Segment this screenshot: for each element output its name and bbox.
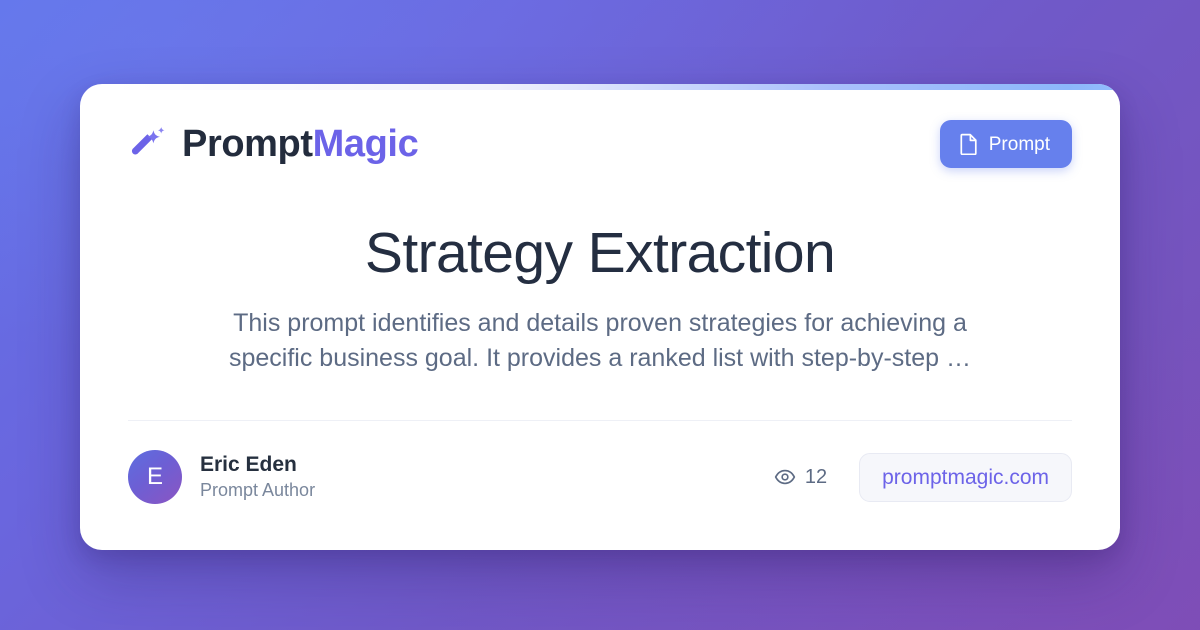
author-block[interactable]: E Eric Eden Prompt Author bbox=[128, 450, 315, 504]
brand-text-accent: Magic bbox=[313, 123, 419, 165]
eye-icon bbox=[774, 466, 796, 488]
view-count: 12 bbox=[774, 466, 827, 489]
magic-wand-icon bbox=[128, 124, 168, 164]
prompt-button-label: Prompt bbox=[989, 135, 1050, 154]
brand-logo[interactable]: PromptMagic bbox=[128, 124, 418, 164]
author-name: Eric Eden bbox=[200, 453, 315, 477]
brand-wordmark: PromptMagic bbox=[182, 125, 418, 163]
brand-text-primary: Prompt bbox=[182, 123, 313, 165]
page-title: Strategy Extraction bbox=[128, 224, 1072, 284]
page-background: PromptMagic Prompt Strategy Extraction T… bbox=[0, 0, 1200, 630]
footer-divider bbox=[128, 420, 1072, 421]
avatar: E bbox=[128, 450, 182, 504]
view-count-value: 12 bbox=[805, 466, 827, 489]
card-footer: E Eric Eden Prompt Author 12 promp bbox=[128, 450, 1072, 504]
file-document-icon bbox=[959, 133, 979, 155]
prompt-button[interactable]: Prompt bbox=[940, 120, 1072, 168]
footer-right-group: 12 promptmagic.com bbox=[774, 453, 1072, 502]
site-badge[interactable]: promptmagic.com bbox=[859, 453, 1072, 502]
prompt-card: PromptMagic Prompt Strategy Extraction T… bbox=[80, 84, 1120, 550]
prompt-description: This prompt identifies and details prove… bbox=[205, 306, 995, 377]
author-role: Prompt Author bbox=[200, 480, 315, 501]
card-header: PromptMagic Prompt bbox=[128, 84, 1072, 168]
